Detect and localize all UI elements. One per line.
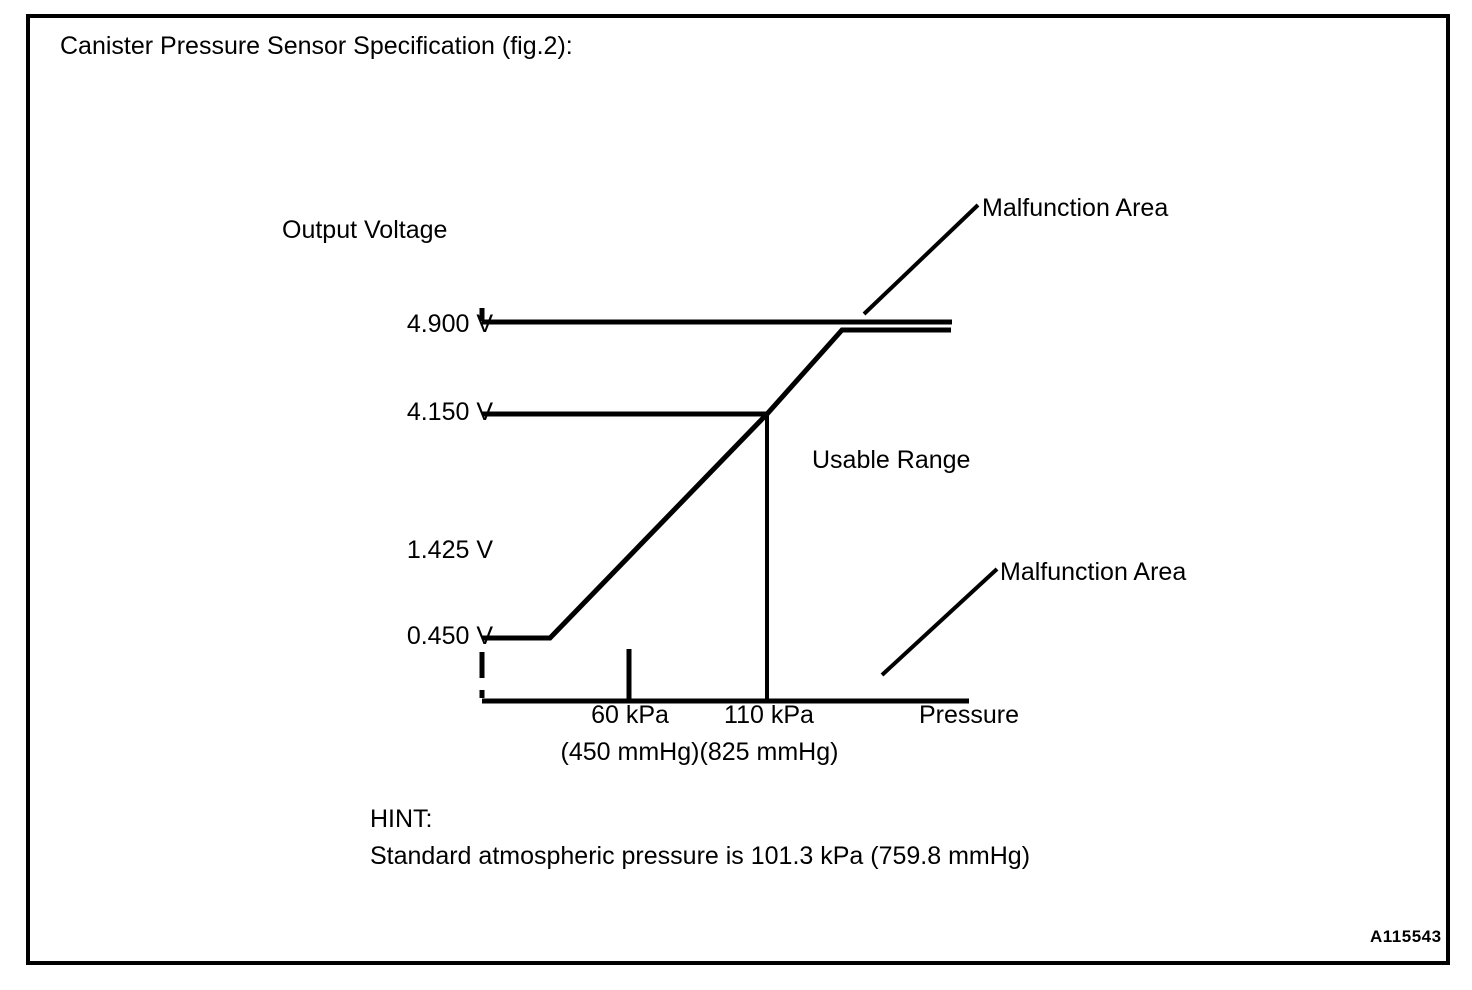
malfunction-area-lower-label: Malfunction Area (1000, 560, 1186, 585)
x-axis-title: Pressure (919, 703, 1019, 728)
y-tick-label-450mv: 0.450 V (353, 624, 493, 649)
x-tick-label-110kpa-mmhg: (825 mmHg) (654, 740, 884, 765)
y-tick-label-4150mv: 4.150 V (353, 400, 493, 425)
y-tick-label-1425mv: 1.425 V (353, 538, 493, 563)
leader-line-malfunction-lower (882, 569, 997, 675)
sensor-characteristic-plot (30, 18, 1454, 969)
y-tick-label-4900mv: 4.900 V (353, 312, 493, 337)
malfunction-area-upper-label: Malfunction Area (982, 196, 1168, 221)
usable-range-label: Usable Range (812, 448, 970, 473)
figure-frame: Canister Pressure Sensor Specification (… (26, 14, 1450, 965)
hint-body: Standard atmospheric pressure is 101.3 k… (370, 844, 1030, 869)
leader-line-malfunction-upper (864, 205, 978, 314)
hint-heading: HINT: (370, 807, 433, 832)
y-axis-title: Output Voltage (282, 218, 447, 243)
sensor-output-curve (482, 330, 951, 638)
x-tick-label-110kpa: 110 kPa (654, 703, 884, 728)
drawing-code: A115543 (1370, 928, 1442, 945)
